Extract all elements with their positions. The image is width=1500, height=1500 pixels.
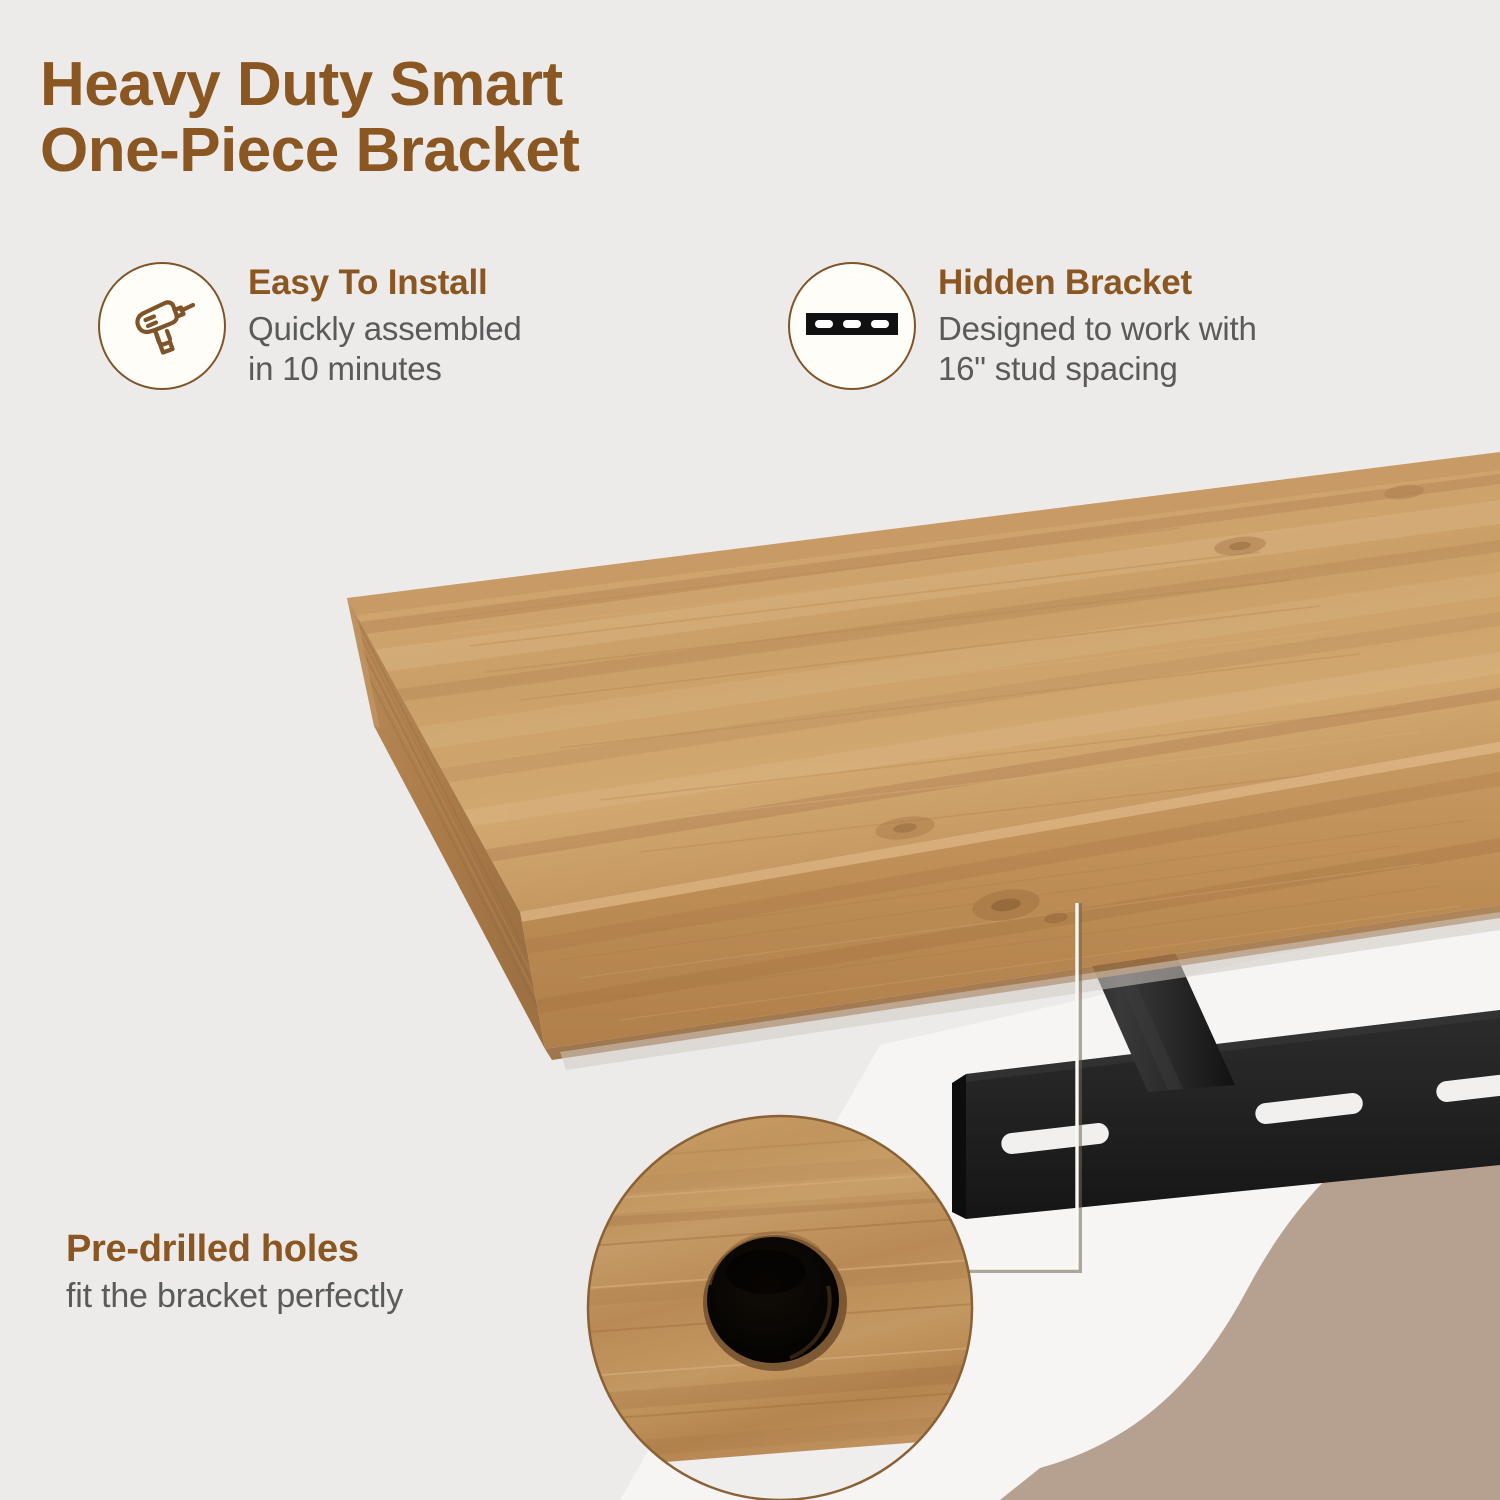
feature-text: Hidden Bracket Designed to work with 16"… — [938, 262, 1257, 389]
page-title: Heavy Duty Smart One-Piece Bracket — [40, 52, 940, 183]
pre-drilled-holes-caption: Pre-drilled holes fit the bracket perfec… — [66, 1228, 403, 1316]
bracket-bar-icon-badge — [788, 262, 916, 390]
feature-title: Hidden Bracket — [938, 264, 1257, 303]
bracket-bar-icon — [806, 307, 898, 346]
feature-easy-to-install: Easy To Install Quickly assembled in 10 … — [98, 262, 522, 390]
caption-title: Pre-drilled holes — [66, 1228, 403, 1271]
product-marketing-image: Heavy Duty Smart One-Piece Bracket Easy … — [0, 0, 1500, 1500]
feature-hidden-bracket: Hidden Bracket Designed to work with 16"… — [788, 262, 1257, 390]
feature-description: Designed to work with 16" stud spacing — [938, 309, 1257, 390]
feature-description: Quickly assembled in 10 minutes — [248, 309, 522, 390]
caption-subtitle: fit the bracket perfectly — [66, 1277, 403, 1316]
feature-title: Easy To Install — [248, 264, 522, 303]
feature-text: Easy To Install Quickly assembled in 10 … — [248, 262, 522, 389]
detail-inset-circle — [588, 1116, 972, 1500]
drill-icon-badge — [98, 262, 226, 390]
drill-icon — [125, 287, 199, 366]
